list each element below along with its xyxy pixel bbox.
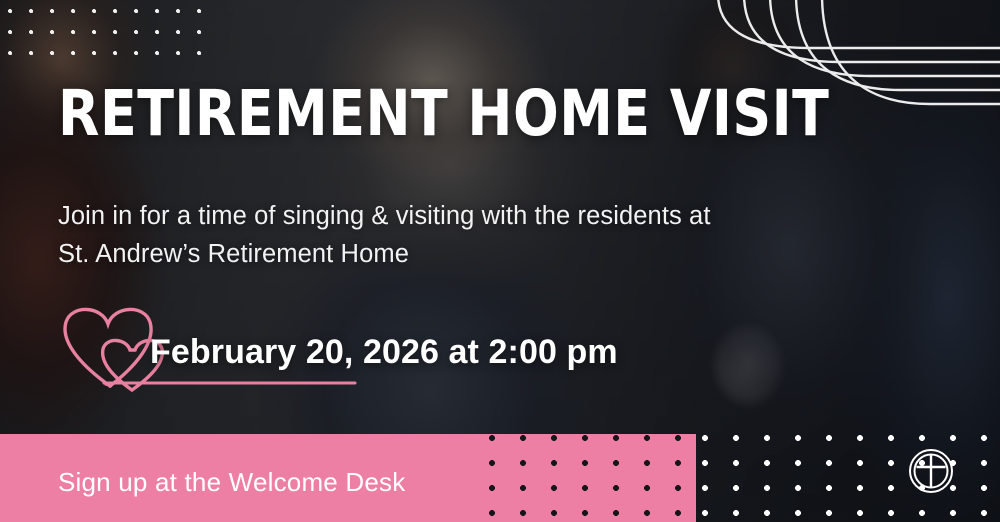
church-cross-circle-logo-icon	[908, 448, 954, 494]
page-title: RETIREMENT HOME VISIT	[58, 83, 829, 145]
dot-grid-icon	[489, 434, 696, 522]
dot-grid-icon	[8, 9, 204, 63]
event-poster: RETIREMENT HOME VISIT Join in for a time…	[0, 0, 1000, 522]
signup-instruction: Sign up at the Welcome Desk	[58, 467, 405, 498]
event-datetime: February 20, 2026 at 2:00 pm	[150, 333, 618, 372]
event-description: Join in for a time of singing & visiting…	[58, 197, 718, 273]
dot-grid-icon	[696, 434, 1000, 522]
